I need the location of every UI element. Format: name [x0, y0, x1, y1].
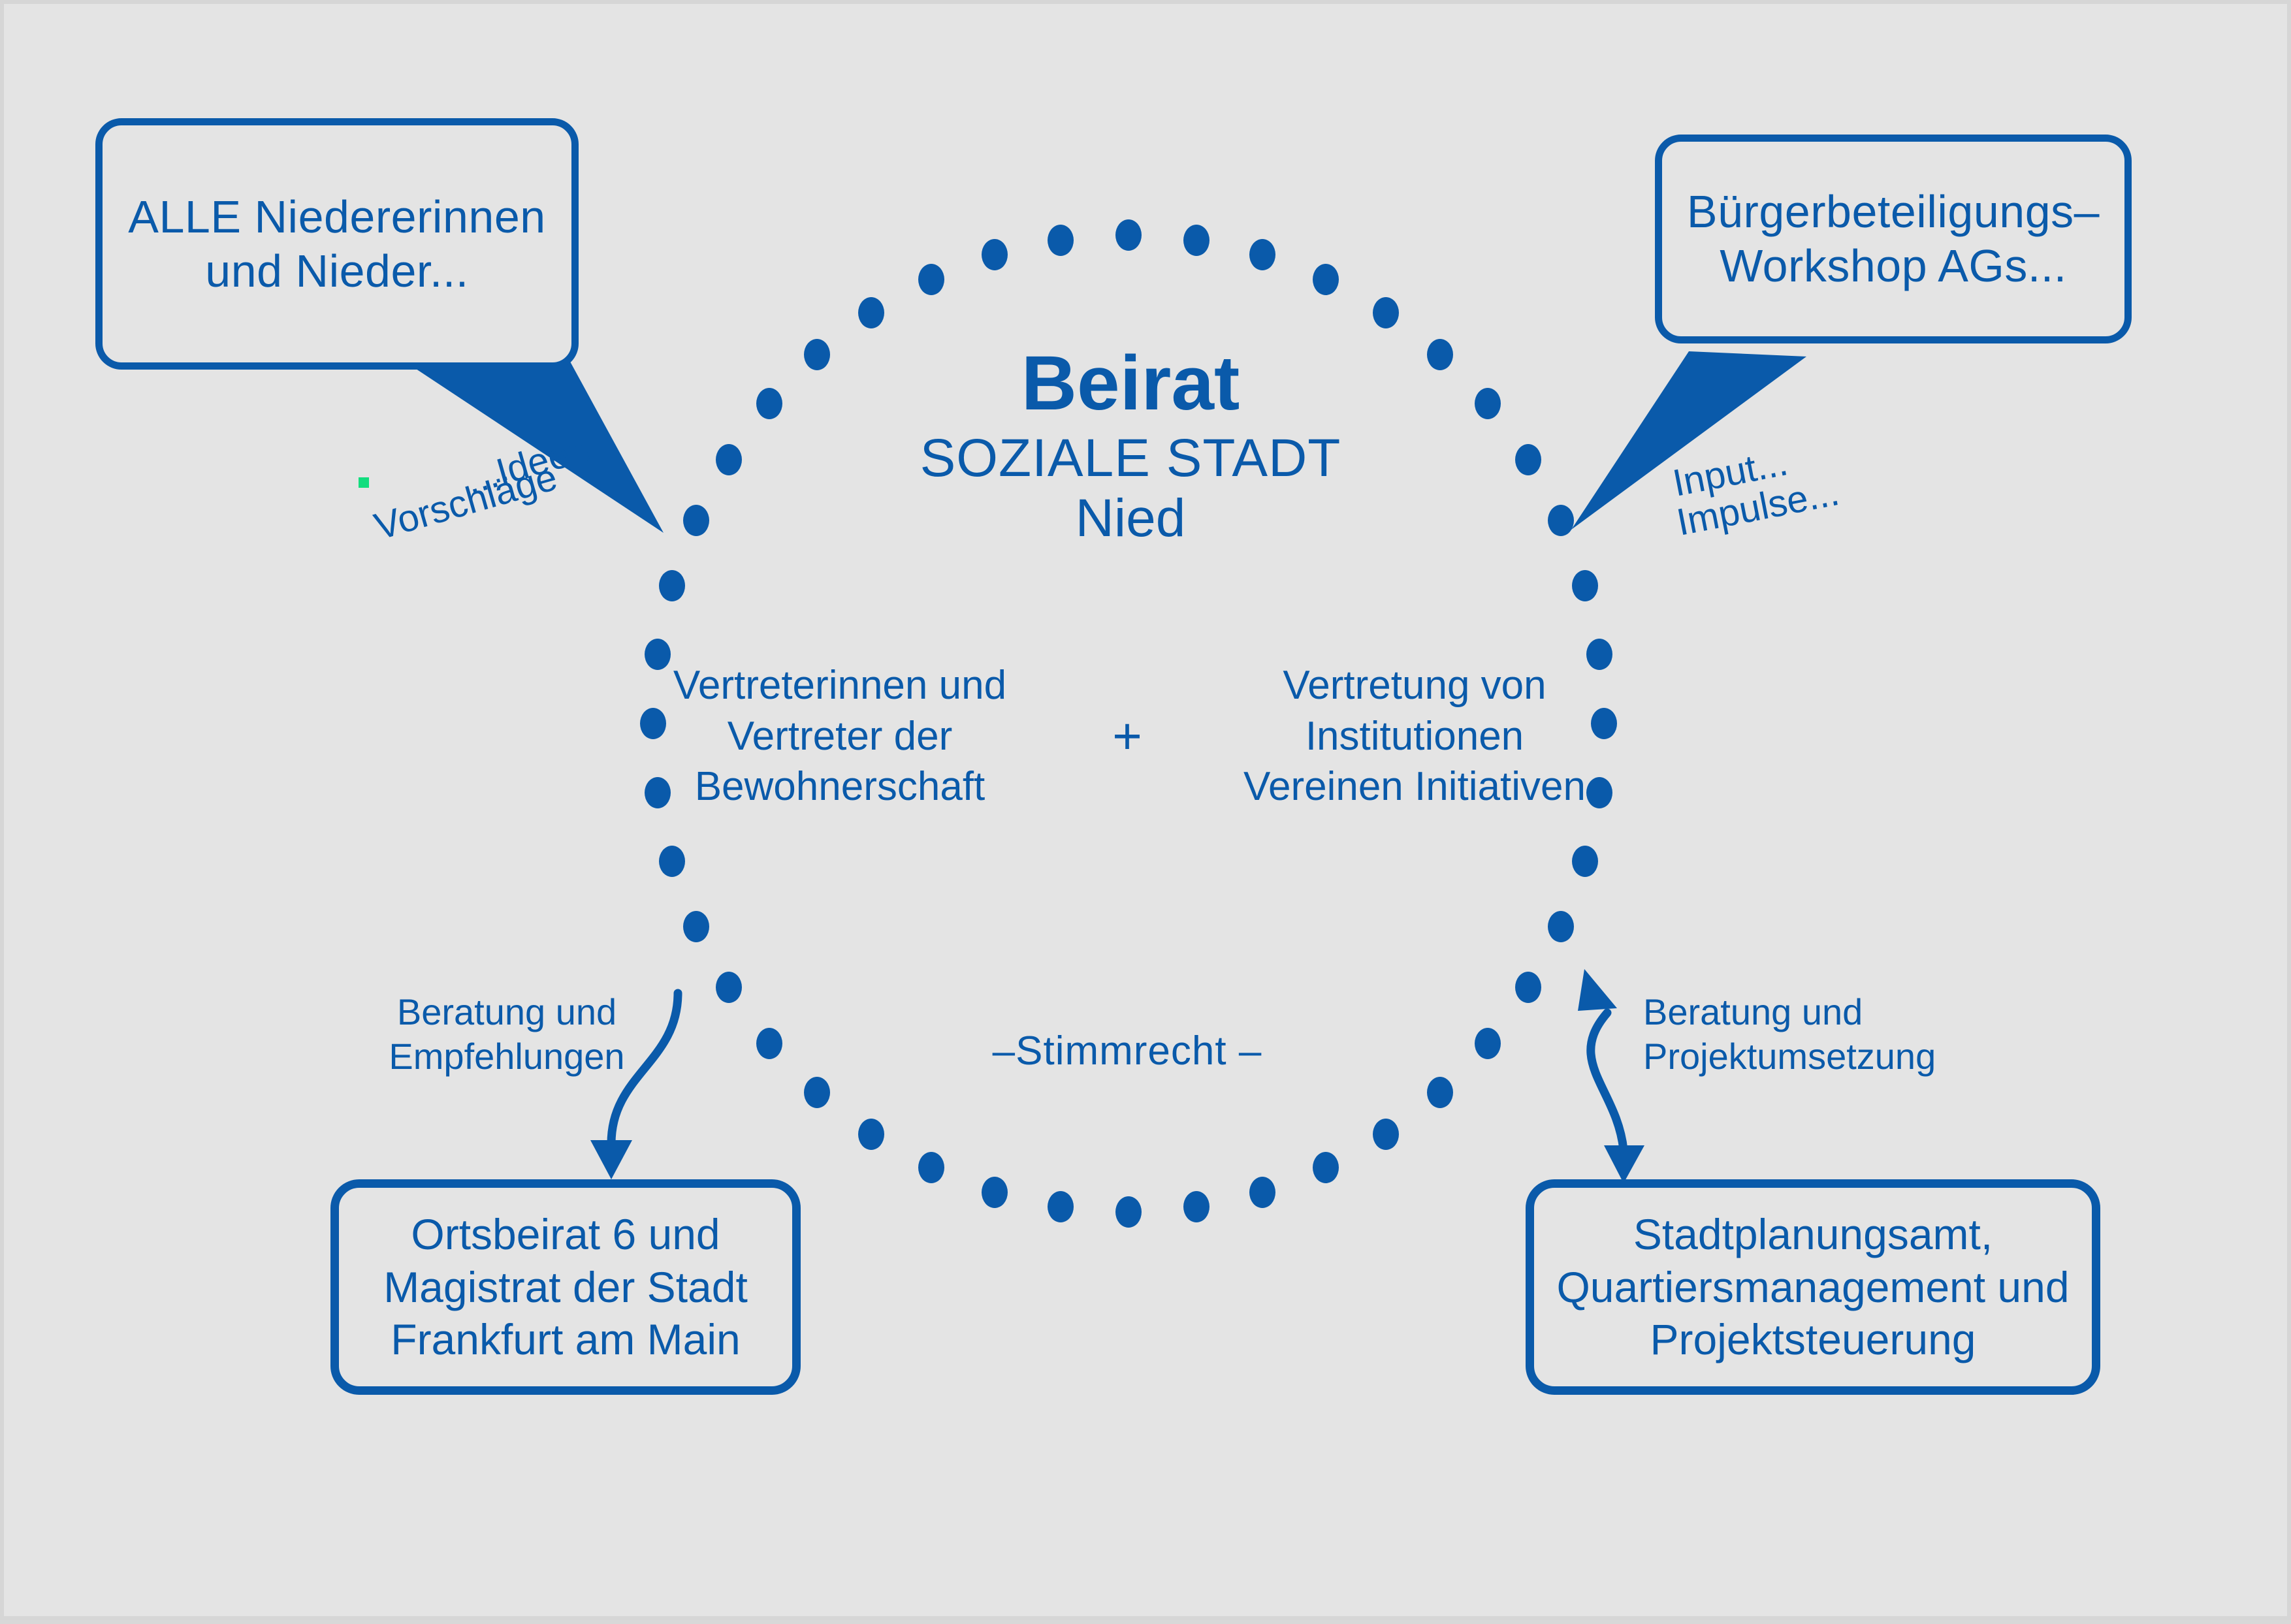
ring-dot — [1427, 1077, 1453, 1108]
ring-dot — [1048, 225, 1074, 256]
box-stadtplanungsamt-text: Stadtplanungsamt, Quartiersmanagement un… — [1534, 1208, 2092, 1366]
ring-dot — [1249, 1177, 1275, 1208]
center-column-left: Vertreterinnen und Vertreter der Bewohne… — [657, 660, 1023, 812]
center-title: Beirat — [628, 343, 1633, 424]
ring-dot — [716, 972, 742, 1003]
ring-dot — [756, 1028, 782, 1059]
ring-dot — [982, 239, 1008, 270]
ring-dot — [1183, 225, 1210, 256]
label-beratung-empfehlungen: Beratung und Empfehlungen — [370, 990, 644, 1079]
ring-dot — [858, 1119, 884, 1150]
ring-dot — [918, 264, 944, 295]
ring-dot — [659, 846, 685, 877]
green-marker-dot — [359, 477, 369, 488]
ring-dot — [1572, 846, 1598, 877]
ring-dot — [683, 911, 709, 942]
speech-bubble-left-text: ALLE Niedererinnen und Nieder... — [103, 190, 571, 298]
ring-dot — [1373, 297, 1399, 328]
arrow-path-right — [1591, 1013, 1624, 1150]
box-stadtplanungsamt[interactable]: Stadtplanungsamt, Quartiersmanagement un… — [1526, 1179, 2100, 1395]
ring-dot — [1548, 911, 1574, 942]
ring-dot — [1373, 1119, 1399, 1150]
label-beratung-projektumsetzung: Beratung und Projektumsetzung — [1643, 990, 1983, 1079]
diagram-canvas: ALLE Niedererinnen und Nieder... Bürgerb… — [0, 0, 2291, 1620]
ring-dot — [1048, 1191, 1074, 1222]
center-column-right: Vertretung von Institutionen Vereinen In… — [1232, 660, 1597, 812]
ring-dot — [1115, 1196, 1142, 1228]
ring-dot — [982, 1177, 1008, 1208]
ring-dot — [659, 570, 685, 601]
center-subtitle-line1: SOZIALE STADT — [628, 428, 1633, 488]
arrow-head-right-up — [1578, 969, 1617, 1011]
ring-dot — [1313, 264, 1339, 295]
center-columns: Vertreterinnen und Vertreter der Bewohne… — [657, 660, 1597, 812]
speech-bubble-right-text: Bürgerbeteiligungs– Workshop AGs... — [1662, 185, 2124, 293]
arrow-head-left — [590, 1140, 632, 1179]
ring-dot — [1183, 1191, 1210, 1222]
plus-operator: + — [1091, 710, 1163, 761]
ring-dot — [804, 1077, 830, 1108]
ring-dot — [918, 1152, 944, 1183]
arrow-head-right-down — [1604, 1145, 1644, 1183]
ring-dot — [1515, 972, 1541, 1003]
box-ortsbeirat[interactable]: Ortsbeirat 6 und Magistrat der Stadt Fra… — [330, 1179, 801, 1395]
ring-dot — [858, 297, 884, 328]
ring-dot — [1572, 570, 1598, 601]
center-subtitle-line2: Nied — [628, 488, 1633, 549]
center-title-block: Beirat SOZIALE STADT Nied — [628, 343, 1633, 549]
speech-bubble-left[interactable]: ALLE Niedererinnen und Nieder... — [95, 118, 579, 370]
box-ortsbeirat-text: Ortsbeirat 6 und Magistrat der Stadt Fra… — [339, 1208, 792, 1366]
center-footnote: –Stimmrecht – — [781, 1028, 1473, 1074]
speech-bubble-right[interactable]: Bürgerbeteiligungs– Workshop AGs... — [1655, 135, 2132, 343]
ring-dot — [1115, 219, 1142, 251]
ring-dot — [1475, 1028, 1501, 1059]
ring-dot — [1313, 1152, 1339, 1183]
ring-dot — [1249, 239, 1275, 270]
